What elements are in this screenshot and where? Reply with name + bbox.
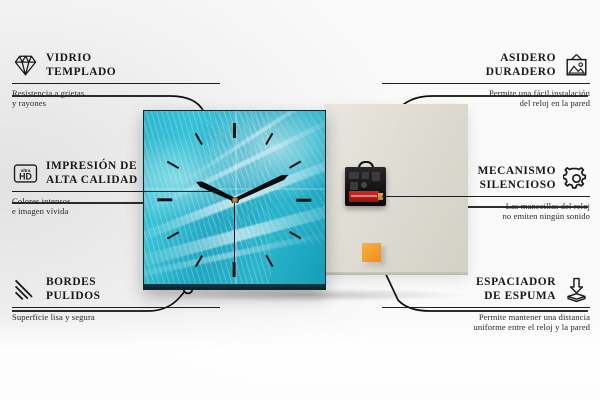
clock-tick [289,161,301,169]
feature-divider [382,196,590,197]
feature-title-line2: TEMPLADO [46,66,116,79]
polished-edges-icon [12,276,39,303]
feature-title-line2: PULIDOS [46,290,101,303]
feature-bordes-pulidos: BORDES PULIDOS Superficie lisa y segura [12,276,220,322]
feature-espaciador-de-espuma: ESPACIADOR DE ESPUMA Permite mantener un… [382,276,590,333]
feature-desc-line2: no emiten ningún sonido [382,211,590,222]
feature-desc-line1: Superficie lisa y segura [12,312,220,323]
infographic-stage: VIDRIO TEMPLADO Resistencia a grietas y … [0,0,600,400]
clock-tick [233,123,236,138]
feature-divider [12,83,220,84]
battery [349,191,379,202]
feature-desc-line1: Permite una fácil instalación [382,88,590,99]
feature-title-line1: MECANISMO [478,165,556,178]
feature-desc-line1: Resistencia a grietas [12,88,220,99]
feature-title-line2: DURADERO [486,66,556,79]
feature-vidrio-templado: VIDRIO TEMPLADO Resistencia a grietas y … [12,52,220,109]
foam-spacer [362,243,381,262]
quartz-mechanism [345,167,386,206]
ultra-hd-icon: ultra HD [12,160,39,187]
feature-asidero-duradero: ASIDERO DURADERO Permite una fácil insta… [382,52,590,109]
foam-spacer-arrow-icon [563,276,590,303]
clock-tick [195,255,203,267]
clock-tick [297,199,312,202]
feature-mecanismo-silencioso: MECANISMO SILENCIOSO Las manecillas del … [382,165,590,222]
clock-tick [167,231,179,239]
feature-title-line1: ASIDERO [486,52,556,65]
feature-impresion-alta-calidad: ultra HD IMPRESIÓN DE ALTA CALIDAD Color… [12,160,220,217]
feature-title-line2: ALTA CALIDAD [46,174,138,187]
clock-tick [266,133,274,145]
feature-title-line1: ESPACIADOR [476,276,556,289]
feature-desc-line1: Colores intensos [12,196,220,207]
feature-divider [382,83,590,84]
feature-divider [12,307,220,308]
diamond-icon [12,52,39,79]
feature-desc-line2: y rayones [12,98,220,109]
feature-title-line2: DE ESPUMA [476,290,556,303]
svg-text:HD: HD [19,172,32,182]
clock-tick [195,133,203,145]
clock-tick [289,231,301,239]
feature-divider [382,307,590,308]
feature-title-line1: IMPRESIÓN DE [46,160,138,173]
feature-title-line2: SILENCIOSO [478,179,556,192]
feature-desc-line1: Las manecillas del reloj [382,201,590,212]
feature-desc-line1: Permite mantener una distancia [382,312,590,323]
feature-title-line1: BORDES [46,276,101,289]
feature-desc-line2: del reloj en la pared [382,98,590,109]
feature-desc-line2: uniforme entre el reloj y la pared [382,322,590,333]
clock-center-cap [232,197,238,203]
feature-divider [12,191,220,192]
feature-desc-line2: e imagen vívida [12,206,220,217]
gear-icon [563,165,590,192]
clock-tick [266,255,274,267]
wall-hanger-frame-icon [563,52,590,79]
feature-title-line1: VIDRIO [46,52,116,65]
mechanism-body [345,167,386,206]
